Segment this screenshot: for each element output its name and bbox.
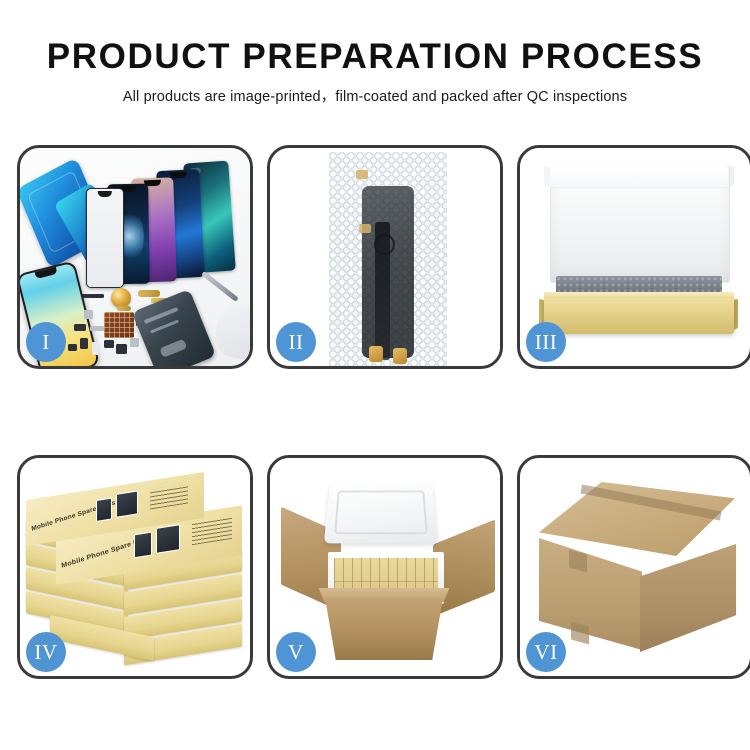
tape-tab <box>359 224 371 233</box>
process-panel-4: Mobile Phone Spare Parts Mobile Phone Sp… <box>17 455 253 679</box>
spare-part <box>84 310 93 319</box>
panel-badge-5: V <box>276 632 316 672</box>
gold-connector <box>369 346 383 362</box>
white-foam-lid-edge <box>550 165 728 188</box>
process-panel-6: VI <box>517 455 750 679</box>
spare-part <box>82 294 104 298</box>
spare-part <box>90 326 104 331</box>
panel-badge-6: VI <box>526 632 566 672</box>
circuit-board-part <box>104 312 134 338</box>
box-product-image <box>96 497 112 522</box>
panel-badge-3: III <box>526 322 566 362</box>
panel-badge-2: II <box>276 322 316 362</box>
page-header: PRODUCT PREPARATION PROCESS All products… <box>0 0 750 107</box>
spare-part <box>116 344 127 354</box>
spare-part <box>138 290 160 297</box>
process-panel-5: V <box>267 455 503 679</box>
spare-part <box>68 344 77 351</box>
page-subtitle: All products are image-printed，film-coat… <box>0 87 750 107</box>
camera-ring <box>374 234 395 255</box>
spare-part <box>117 306 131 311</box>
yellow-box-tray <box>544 298 734 334</box>
tape-tab <box>356 170 368 179</box>
process-panel-grid: I II <box>17 145 733 679</box>
bubble-wrap-bag <box>329 152 447 366</box>
spare-part <box>74 324 86 331</box>
process-panel-2: II <box>267 145 503 369</box>
spare-part <box>80 338 88 349</box>
carton-front <box>317 598 451 660</box>
page-title: PRODUCT PREPARATION PROCESS <box>0 38 750 76</box>
spare-part <box>104 340 114 348</box>
gold-connector <box>393 348 407 364</box>
process-panel-3: III <box>517 145 750 369</box>
gold-coil-part <box>111 288 131 308</box>
foam-case-lid <box>324 484 438 544</box>
panel-badge-1: I <box>26 322 66 362</box>
phone-front-glass <box>86 188 124 288</box>
box-product-image <box>156 524 180 554</box>
spare-part <box>130 338 139 347</box>
box-product-image <box>116 490 138 517</box>
spare-part <box>92 342 99 355</box>
panel-badge-4: IV <box>26 632 66 672</box>
box-product-image <box>134 532 152 559</box>
process-panel-1: I <box>17 145 253 369</box>
box-spec-lines <box>192 517 232 545</box>
box-spec-lines <box>150 483 188 509</box>
